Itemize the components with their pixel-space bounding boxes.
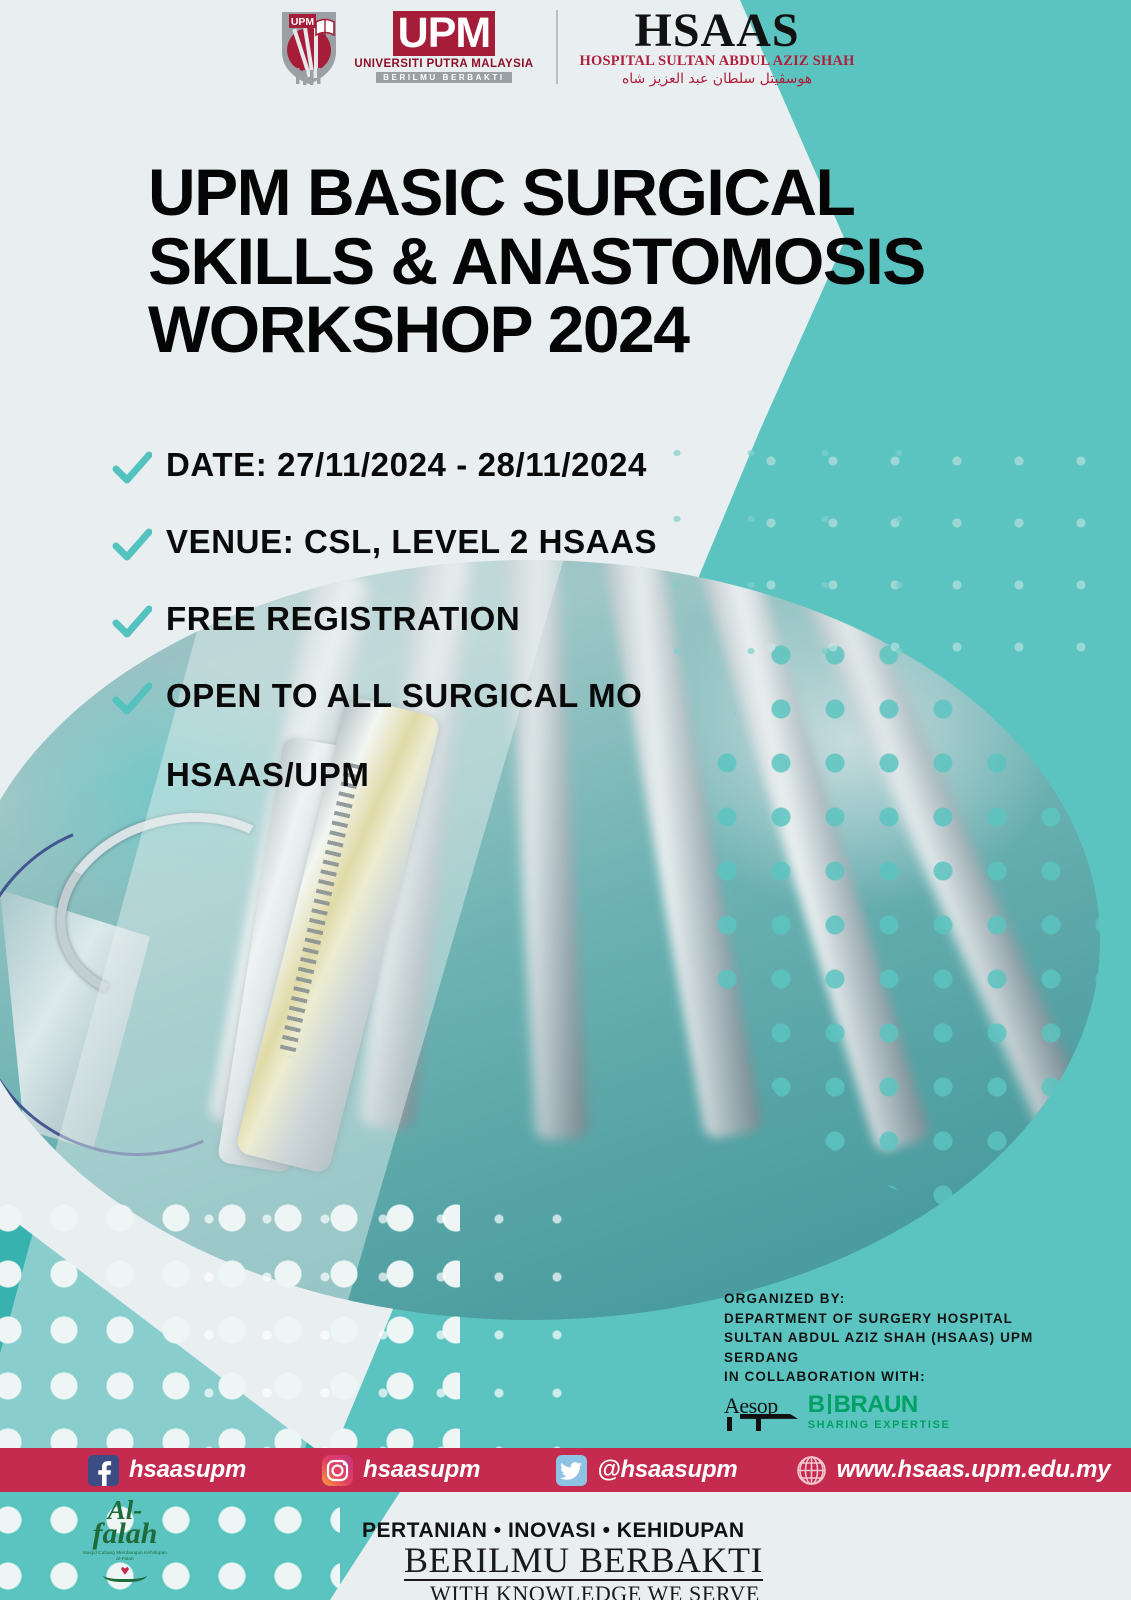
upm-motto: BERILMU BERBAKTI WITH KNOWLEDGE WE SERVE [404,1542,763,1600]
bbraun-wordmark-b: B [808,1391,825,1418]
alfalah-line-2: falah [82,1520,168,1547]
collaboration-heading: IN COLLABORATION WITH: [724,1367,1124,1387]
open-book-icon [103,1565,147,1582]
check-icon [112,603,152,643]
motto-malay: BERILMU BERBAKTI [404,1542,763,1581]
list-item: OPEN TO ALL SURGICAL MO [112,679,932,720]
title-line-3: WORKSHOP 2024 [148,295,1028,364]
upm-crest-icon: UPM [276,8,342,86]
list-item-label: OPEN TO ALL SURGICAL MO [166,679,642,714]
organizer-block: ORGANIZED BY: DEPARTMENT OF SURGERY HOSP… [724,1289,1124,1431]
check-icon [112,449,152,489]
hsaas-wordmark-subtitle: HOSPITAL SULTAN ABDUL AZIZ SHAH [580,53,855,70]
alfalah-subtitle: Masjid Cabang Membangun Kehidupan al-Fal… [82,1550,168,1561]
social-media-bar: hsaasupm hsaasupm [0,1448,1131,1492]
social-label-instagram: hsaasupm [363,1456,480,1484]
hsaas-wordmark-arabic: هوسڤيتل سلطان عبد العزيز شاه [622,71,812,87]
social-label-twitter: @hsaasupm [597,1456,737,1484]
social-label-website: www.hsaas.upm.edu.my [837,1456,1111,1484]
social-item-facebook[interactable]: hsaasupm [88,1455,246,1486]
organizer-line-3: SERDANG [724,1348,1124,1368]
poster-root: UPM UPM UNIVERSITI PUTRA MALAYSIA BERILM… [0,0,1131,1600]
social-item-website[interactable]: www.hsaas.upm.edu.my [796,1455,1111,1486]
organizer-line-1: DEPARTMENT OF SURGERY HOSPITAL [724,1309,1124,1329]
motto-english: WITH KNOWLEDGE WE SERVE [430,1583,763,1600]
list-item-label: DATE: 27/11/2024 - 28/11/2024 [166,448,647,483]
bbraun-tagline: SHARING EXPERTISE [808,1420,951,1431]
social-item-twitter[interactable]: @hsaasupm [556,1455,737,1486]
bbraun-wordmark-braun: BRAUN [834,1391,918,1418]
bbraun-logo: BBRAUN SHARING EXPERTISE [808,1393,951,1431]
list-item: DATE: 27/11/2024 - 28/11/2024 [112,448,932,489]
bbraun-divider-icon [828,1394,831,1414]
upm-wordmark-subtitle: UNIVERSITI PUTRA MALAYSIA [354,58,533,70]
hsaas-wordmark: HSAAS HOSPITAL SULTAN ABDUL AZIZ SHAH هو… [580,8,855,87]
dot-pattern-bottom-left-fade [180,1190,600,1450]
check-icon [112,680,152,720]
twitter-icon[interactable] [556,1455,587,1486]
alfalah-logo: Al- falah Masjid Cabang Membangun Kehidu… [82,1498,168,1598]
aesop-legs-icon [727,1417,761,1431]
page-title: UPM BASIC SURGICAL SKILLS & ANASTOMOSIS … [148,158,1028,364]
list-item-continuation: HSAAS/UPM [166,756,932,794]
upm-wordmark-text: UPM [393,11,496,56]
svg-text:UPM: UPM [291,16,315,28]
globe-icon[interactable] [796,1455,827,1486]
hsaas-wordmark-text: HSAAS [635,8,800,54]
upm-wordmark-motto: BERILMU BERBAKTI [376,72,512,83]
social-item-instagram[interactable]: hsaasupm [322,1455,480,1486]
logo-divider [556,10,558,84]
check-icon [112,526,152,566]
organizer-heading: ORGANIZED BY: [724,1289,1124,1309]
partner-logo-row: Aesop BBRAUN SHARING EXPERTISE [724,1393,1124,1431]
title-line-2: SKILLS & ANASTOMOSIS [148,227,1028,296]
social-label-facebook: hsaasupm [129,1456,246,1484]
list-item: VENUE: CSL, LEVEL 2 HSAAS [112,525,932,566]
upm-wordmark: UPM UNIVERSITI PUTRA MALAYSIA BERILMU BE… [354,11,533,83]
title-line-1: UPM BASIC SURGICAL [148,158,1028,227]
instagram-icon[interactable] [322,1455,353,1486]
dot-pattern-footer [0,1492,340,1600]
aesop-logo: Aesop [724,1395,778,1431]
header-logo-row: UPM UPM UNIVERSITI PUTRA MALAYSIA BERILM… [0,8,1131,87]
facebook-icon[interactable] [88,1455,119,1486]
list-item: FREE REGISTRATION [112,602,932,643]
organizer-line-2: SULTAN ABDUL AZIZ SHAH (HSAAS) UPM [724,1328,1124,1348]
details-list: DATE: 27/11/2024 - 28/11/2024 VENUE: CSL… [112,448,932,794]
list-item-label: FREE REGISTRATION [166,602,520,637]
list-item-label: VENUE: CSL, LEVEL 2 HSAAS [166,525,657,560]
